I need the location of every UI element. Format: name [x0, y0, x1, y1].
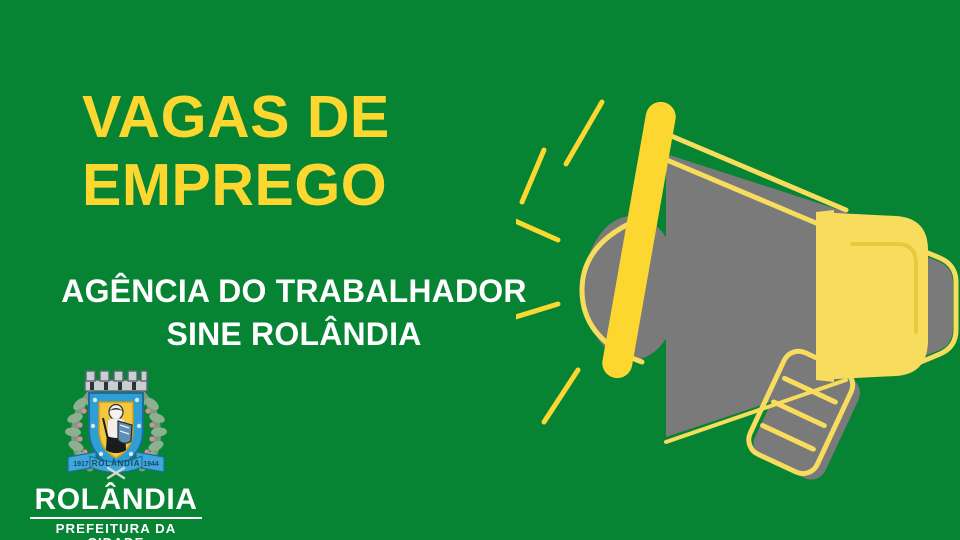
- crest-ribbon-text: ROLÂNDIA: [92, 459, 141, 468]
- subtitle-line-1: AGÊNCIA DO TRABALHADOR: [46, 270, 542, 313]
- subtitle: AGÊNCIA DO TRABALHADOR SINE ROLÂNDIA: [46, 270, 542, 356]
- megaphone-barrel-yellow: [816, 210, 834, 382]
- subtitle-line-2: SINE ROLÂNDIA: [46, 313, 542, 356]
- sound-ray-1: [566, 102, 602, 164]
- brand-city-name: ROLÂNDIA: [28, 484, 204, 515]
- sound-ray-3: [516, 216, 558, 240]
- sound-ray-5: [544, 370, 578, 422]
- crest-date-right: 1944: [143, 461, 159, 468]
- brand-divider: [30, 517, 202, 519]
- headline-line-2: EMPREGO: [82, 151, 552, 219]
- poster-canvas: VAGAS DE EMPREGO AGÊNCIA DO TRABALHADOR …: [0, 0, 960, 540]
- headline: VAGAS DE EMPREGO: [82, 83, 552, 219]
- megaphone-icon: [516, 92, 960, 492]
- brand-tagline: PREFEITURA DA CIDADE: [28, 522, 204, 540]
- brand-wordmark: ROLÂNDIA PREFEITURA DA CIDADE: [28, 484, 204, 540]
- coat-of-arms-icon: ROLÂNDIA 1917 1944: [56, 364, 176, 480]
- crest-date-left: 1917: [73, 461, 89, 468]
- mural-crown-icon: [85, 371, 147, 391]
- brand-logo: ROLÂNDIA 1917 1944 ROLÂNDIA PREFEITURA D…: [28, 364, 204, 540]
- megaphone-body: [582, 100, 956, 485]
- headline-line-1: VAGAS DE: [82, 83, 552, 151]
- megaphone-illustration: [516, 92, 960, 492]
